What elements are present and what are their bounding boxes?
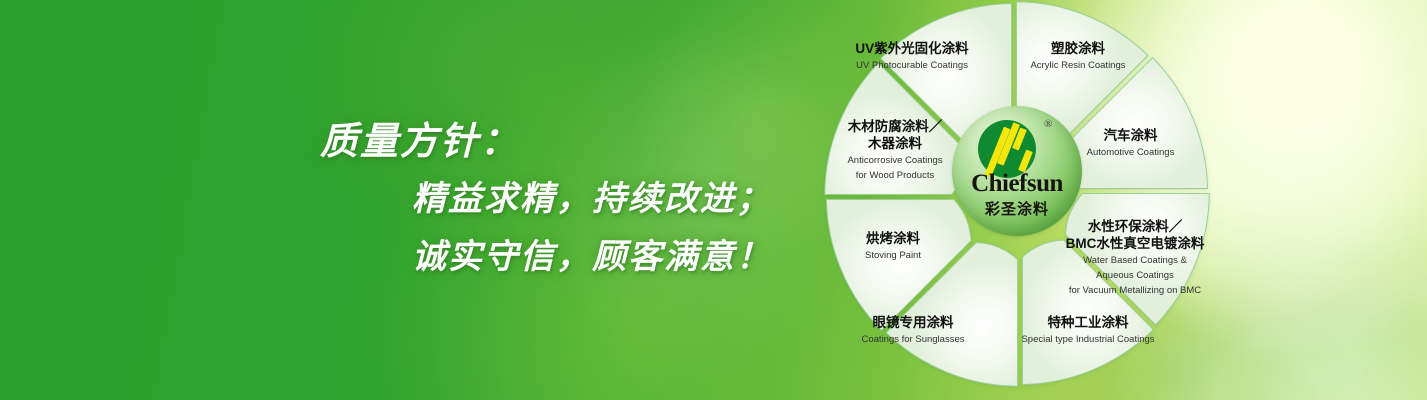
slogan-line-2: 精益求精，持续改进； [412,176,820,222]
slogan-line-1: 质量方针： [320,118,820,166]
product-category-wheel: UV紫外光固化涂料 UV Photocurable Coatings 塑胶涂料 … [825,2,1209,386]
registered-trademark-icon: ® [1044,118,1052,130]
banner-stage: 质量方针： 精益求精，持续改进； 诚实守信，顾客满意！ [0,0,1427,400]
chiefsun-logo[interactable]: ® Chiefsun 彩圣涂料 [952,106,1082,236]
quality-policy-slogan: 质量方针： 精益求精，持续改进； 诚实守信，顾客满意！ [300,118,820,280]
logo-brand-name-cn: 彩圣涂料 [952,198,1082,219]
logo-brand-name: Chiefsun [952,170,1082,198]
slogan-line-3: 诚实守信，顾客满意！ [412,234,820,280]
